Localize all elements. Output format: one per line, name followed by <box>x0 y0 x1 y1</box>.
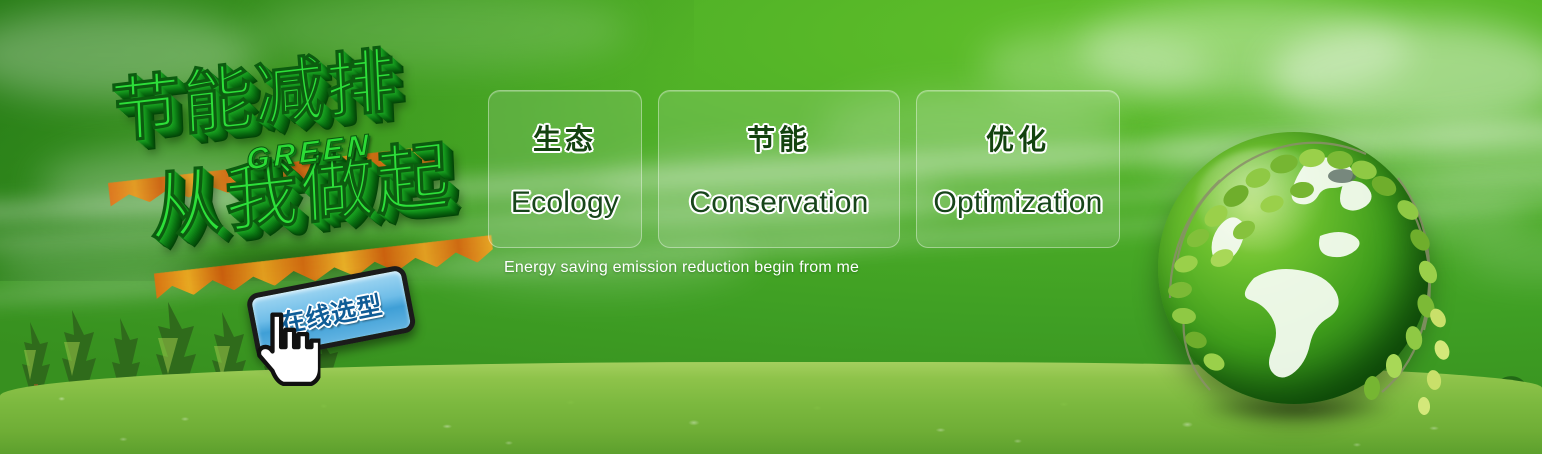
feature-card-optimization[interactable]: 优化 Optimization <box>916 90 1120 248</box>
globe-sphere <box>1158 132 1430 404</box>
feature-card-ecology[interactable]: 生态 Ecology <box>488 90 642 248</box>
feature-card-conservation[interactable]: 节能 Conservation <box>658 90 900 248</box>
feature-card-list: 生态 Ecology 节能 Conservation 优化 Optimizati… <box>488 90 1120 248</box>
feature-card-cn-label: 生态 <box>533 118 597 158</box>
pointing-hand-cursor-icon <box>250 310 320 390</box>
feature-card-en-label: Ecology <box>511 186 619 220</box>
globe-gloss <box>1196 148 1337 251</box>
eco-hero-banner: 节能减排 从我做起 GREEN 在线选型 <box>0 0 1542 454</box>
title-art-3d: 节能减排 从我做起 GREEN <box>96 36 486 271</box>
feature-card-cn-label: 节能 <box>747 118 811 158</box>
leafy-green-globe-icon <box>1136 118 1456 438</box>
tagline: Energy saving emission reduction begin f… <box>504 259 859 277</box>
feature-card-cn-label: 优化 <box>986 118 1050 158</box>
feature-card-en-label: Optimization <box>933 186 1102 220</box>
feature-card-en-label: Conservation <box>689 186 868 220</box>
